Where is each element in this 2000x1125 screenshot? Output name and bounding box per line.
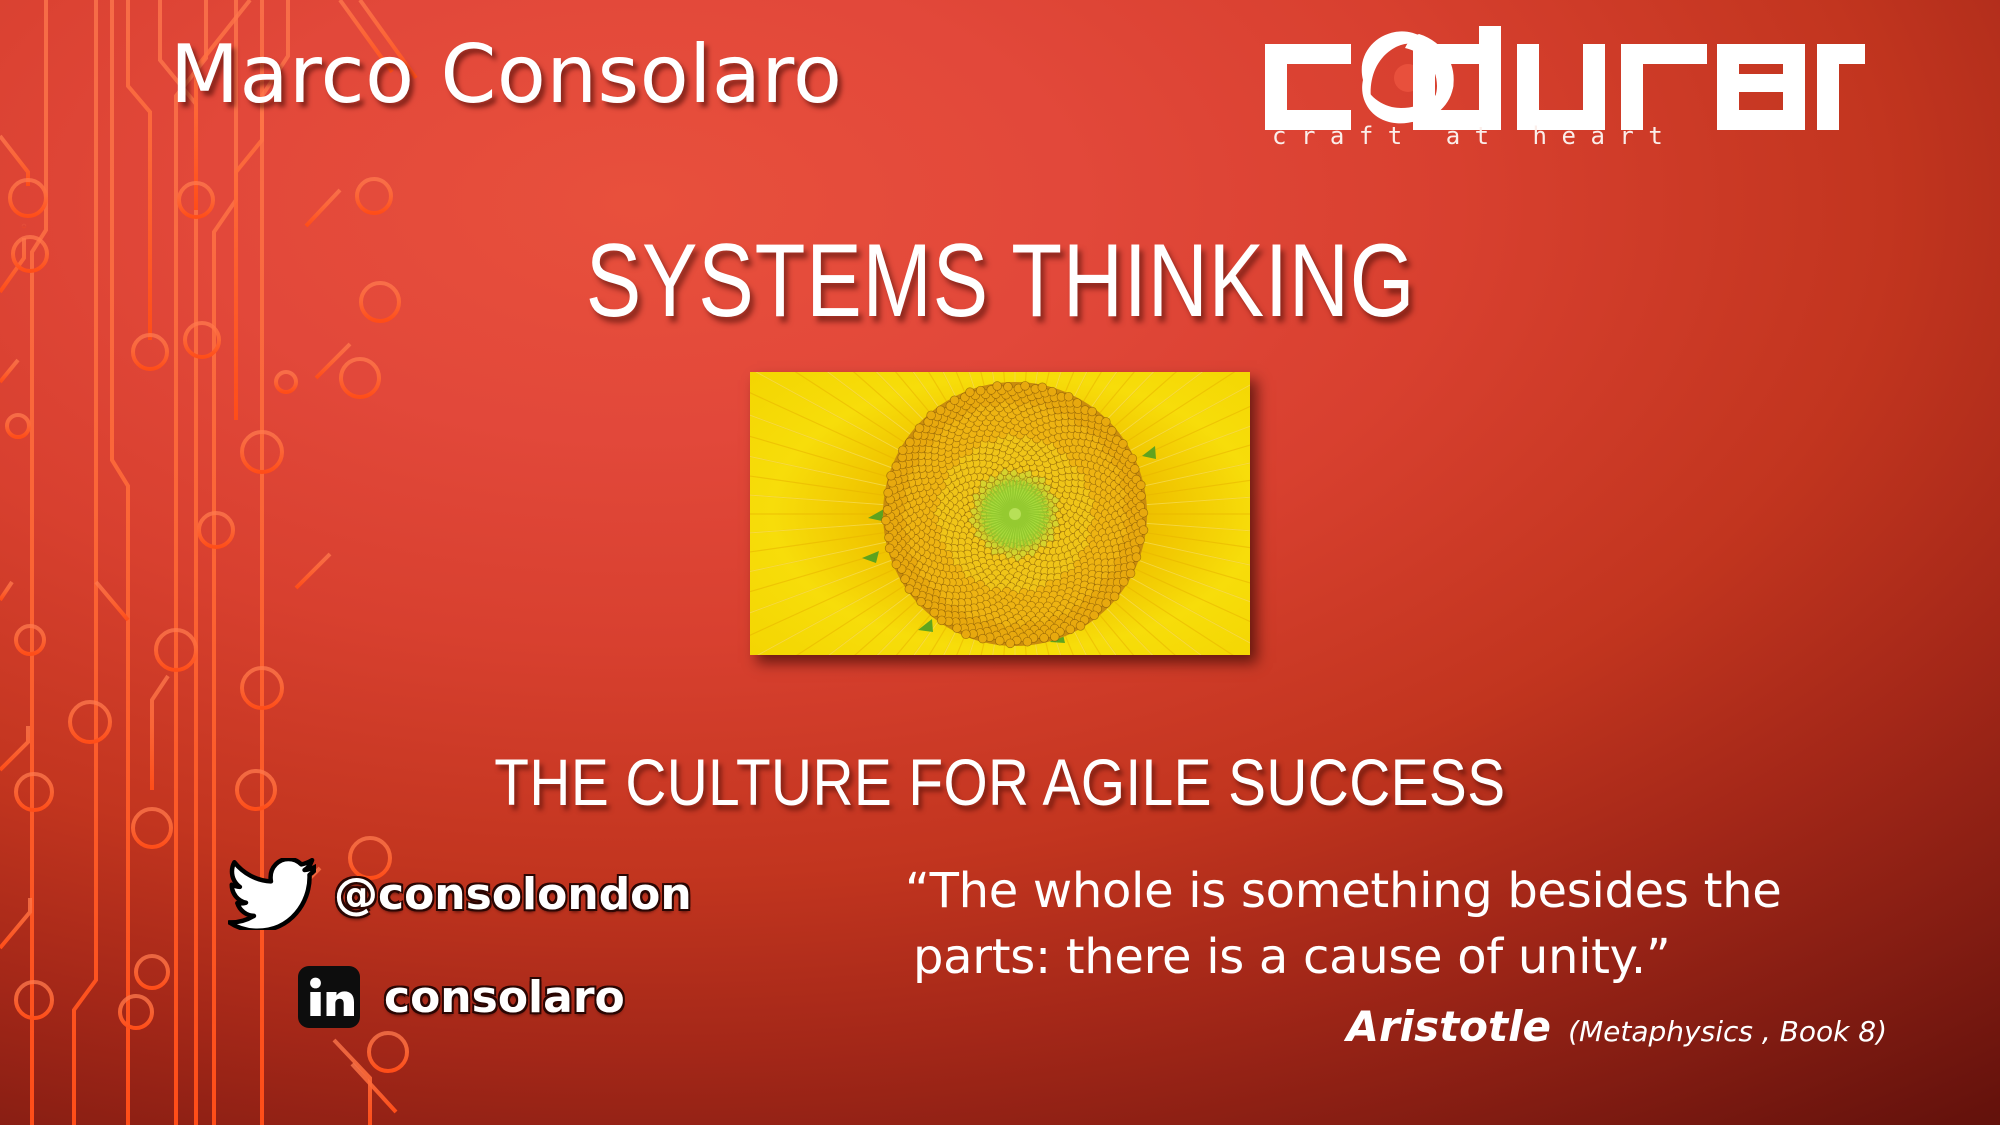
page-title: SYSTEMS THINKING [0,222,2000,341]
logo-tagline: craft at heart [1272,122,1872,150]
quote-line-2: parts: there is a cause of unity.” [905,924,1905,990]
quote-author: Aristotle [1346,1002,1551,1051]
sunflower-fibonacci-spiral-photo [750,372,1250,655]
page-subtitle: THE CULTURE FOR AGILE SUCCESS [0,744,2000,820]
quote-attribution: Aristotle (Metaphysics , Book 8) [905,1002,1905,1051]
twitter-bird-icon[interactable] [228,858,316,930]
page-title-text: SYSTEMS THINKING [585,222,1415,341]
twitter-handle-row[interactable]: @consolondon [228,858,692,930]
circuit-board-decoration [0,0,420,1125]
quote-source: (Metaphysics , Book 8) [1568,1015,1887,1048]
quote-block: “The whole is something besides the part… [905,858,1905,1051]
page-subtitle-text: THE CULTURE FOR AGILE SUCCESS [494,744,1505,820]
linkedin-in-icon[interactable] [298,966,360,1028]
quote-line-1: “The whole is something besides the [905,858,1905,924]
twitter-handle-label: @consolondon [334,869,692,920]
speaker-name: Marco Consolaro [170,28,843,121]
linkedin-handle-label: consolaro [384,972,625,1023]
linkedin-handle-row[interactable]: consolaro [298,966,625,1028]
presentation-slide: Marco Consolaro [0,0,2000,1125]
